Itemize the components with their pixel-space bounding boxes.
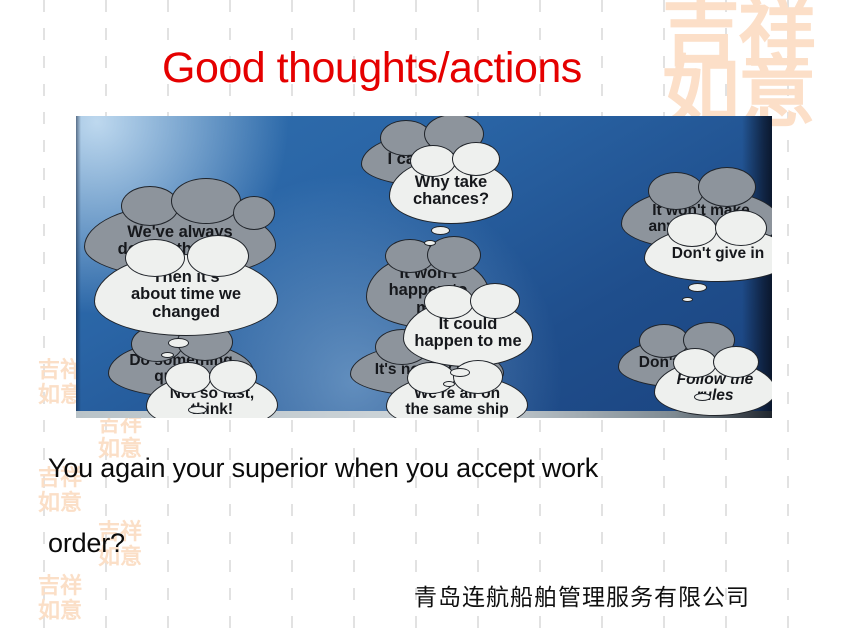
bubble-text: Follow the rules	[661, 372, 769, 404]
bubble-tail	[694, 393, 711, 401]
seal-watermark: 吉祥 如意	[34, 574, 86, 626]
bubble-text: Why take chances?	[396, 174, 506, 208]
grid-line	[43, 0, 45, 635]
bubble-tail	[161, 352, 174, 358]
bubble-tail	[424, 240, 436, 246]
bubble-it-could-happen: It could happen to me	[403, 299, 533, 367]
bubble-were-all-on: We're all on the same ship	[386, 374, 528, 418]
footer-company-name: 青岛连航船舶管理服务有限公司	[414, 578, 750, 612]
body-text-line-1: You again your superior when you accept …	[48, 453, 598, 484]
bubble-tail	[431, 226, 450, 235]
bubble-follow-the-rules: Follow the rules	[654, 360, 772, 416]
bubble-text: We're all on the same ship	[393, 386, 521, 418]
seal-watermark-large: 吉祥 如意	[662, 2, 814, 124]
bubble-text: Don't give in	[651, 246, 772, 262]
bubble-text: Not so fast, think!	[153, 386, 271, 418]
bubble-text: Then it's about time we changed	[101, 269, 271, 320]
bubble-not-so-fast: Not so fast, think!	[146, 374, 278, 418]
bubble-why-take-chances: Why take chances?	[389, 158, 513, 224]
page-title: Good thoughts/actions	[162, 44, 582, 93]
body-text-line-2: order?	[48, 528, 125, 559]
bubble-tail	[450, 368, 470, 377]
bubble-tail	[188, 406, 207, 414]
bubble-tail	[443, 381, 455, 387]
bubble-tail	[682, 297, 693, 302]
bubble-tail	[168, 338, 189, 348]
slide-canvas: 吉祥 如意 吉祥 如意 吉祥 如意 吉祥 如意 吉祥 如意 吉祥 如意 Good…	[0, 0, 844, 635]
thought-bubbles-photo: We've always done it that way Then it's …	[76, 116, 772, 418]
bubble-tail	[688, 283, 707, 292]
bubble-text: It could happen to me	[410, 316, 526, 350]
photo-left-shadow	[76, 116, 81, 418]
